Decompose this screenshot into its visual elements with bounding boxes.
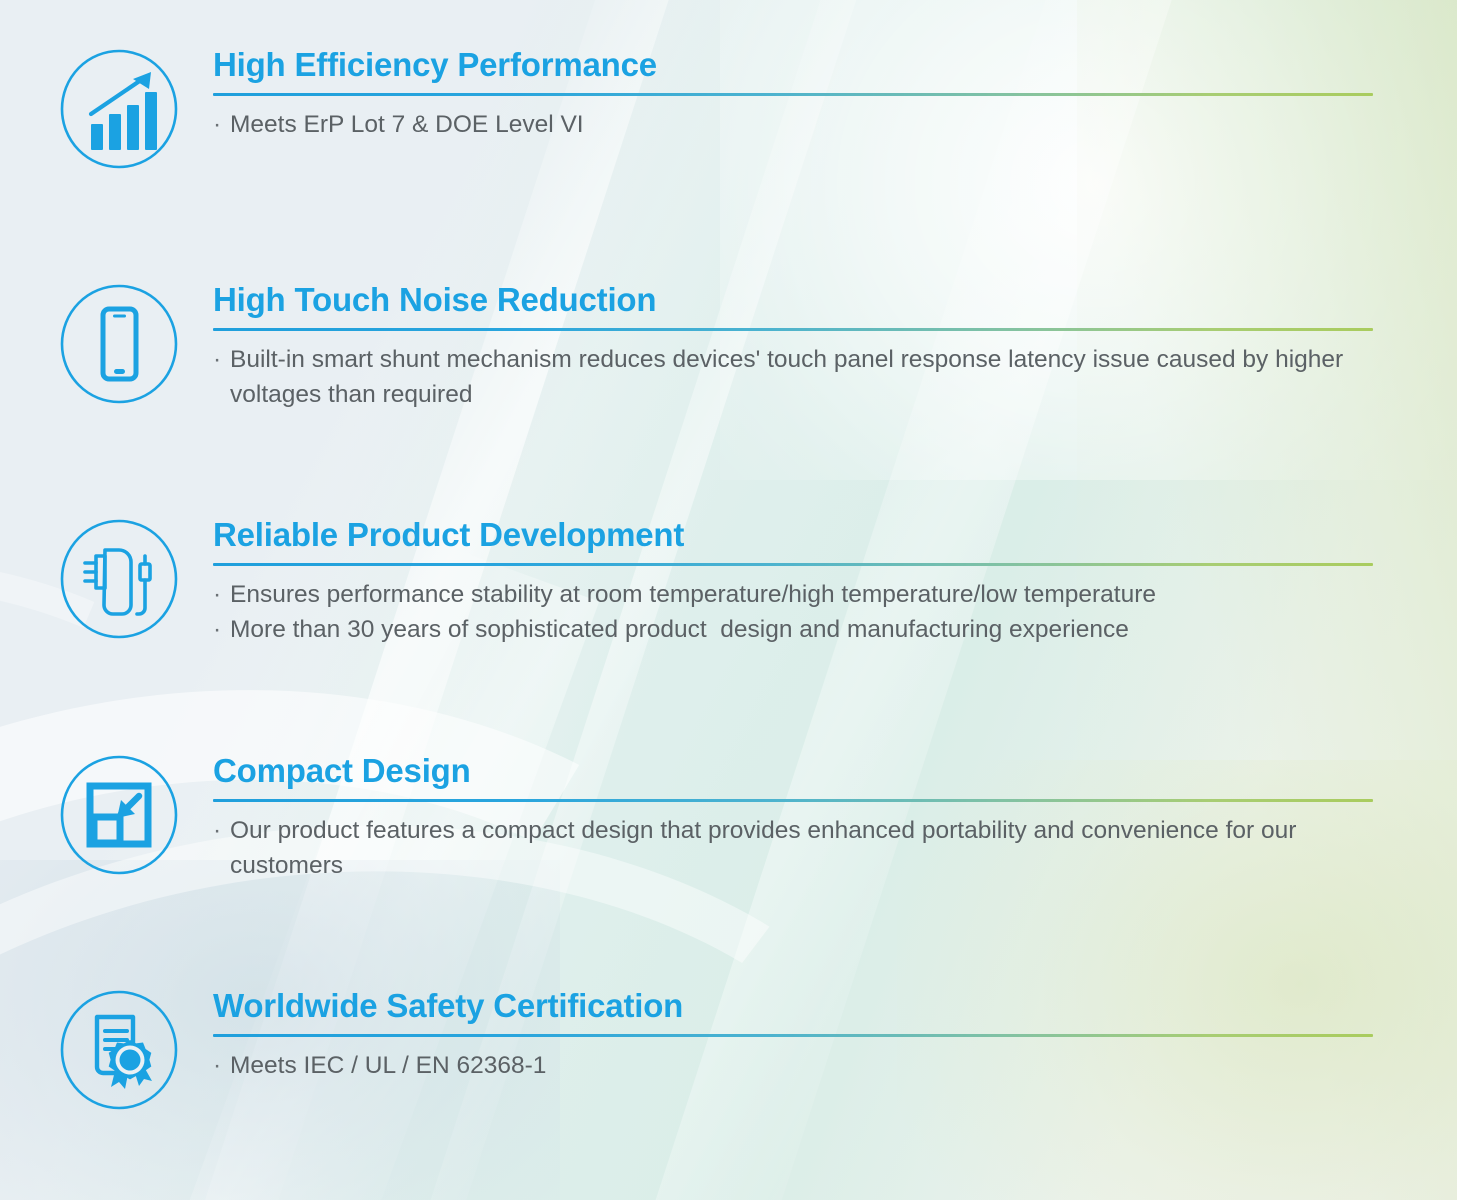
bullet-line: · Meets IEC / UL / EN 62368-1 — [213, 1049, 1378, 1084]
feature-body: Reliable Product Development · Ensures p… — [213, 518, 1378, 648]
bullet-line: · Our product features a compact design … — [213, 814, 1378, 884]
bullet-line: · Built-in smart shunt mechanism reduces… — [213, 343, 1378, 413]
bullet-text: Meets ErP Lot 7 & DOE Level VI — [230, 108, 1378, 143]
feature-bullets: · Ensures performance stability at room … — [213, 578, 1378, 648]
bullet-line: · More than 30 years of sophisticated pr… — [213, 613, 1378, 648]
feature-body: Compact Design · Our product features a … — [213, 754, 1378, 884]
bullet-marker: · — [213, 343, 230, 413]
feature-divider — [213, 93, 1373, 96]
bullet-text: Meets IEC / UL / EN 62368-1 — [230, 1049, 1378, 1084]
bullet-line: · Ensures performance stability at room … — [213, 578, 1378, 613]
feature-divider — [213, 799, 1373, 802]
bar-chart-growth-icon — [59, 48, 179, 170]
bullet-marker: · — [213, 814, 230, 884]
feature-divider — [213, 563, 1373, 566]
feature-body: High Touch Noise Reduction · Built-in sm… — [213, 283, 1378, 413]
feature-body: High Efficiency Performance · Meets ErP … — [213, 48, 1378, 143]
feature-divider — [213, 328, 1373, 331]
feature-title: Worldwide Safety Certification — [213, 989, 1378, 1024]
feature-title: Compact Design — [213, 754, 1378, 789]
feature-title: High Efficiency Performance — [213, 48, 1378, 83]
feature-bullets: · Our product features a compact design … — [213, 814, 1378, 884]
feature-highlights-page: High Efficiency Performance · Meets ErP … — [0, 0, 1457, 1200]
bullet-text: Built-in smart shunt mechanism reduces d… — [230, 343, 1378, 413]
bullet-marker: · — [213, 108, 230, 143]
feature-body: Worldwide Safety Certification · Meets I… — [213, 989, 1378, 1084]
compact-resize-icon — [59, 754, 179, 876]
power-adapter-icon — [59, 518, 179, 640]
feature-title: High Touch Noise Reduction — [213, 283, 1378, 318]
bullet-line: · Meets ErP Lot 7 & DOE Level VI — [213, 108, 1378, 143]
bullet-text: Our product features a compact design th… — [230, 814, 1378, 884]
feature-bullets: · Meets IEC / UL / EN 62368-1 — [213, 1049, 1378, 1084]
bullet-text: More than 30 years of sophisticated prod… — [230, 613, 1378, 648]
bullet-marker: · — [213, 613, 230, 648]
feature-bullets: · Built-in smart shunt mechanism reduces… — [213, 343, 1378, 413]
bullet-text: Ensures performance stability at room te… — [230, 578, 1378, 613]
feature-title: Reliable Product Development — [213, 518, 1378, 553]
feature-bullets: · Meets ErP Lot 7 & DOE Level VI — [213, 108, 1378, 143]
certificate-award-icon — [59, 989, 179, 1111]
bullet-marker: · — [213, 578, 230, 613]
feature-divider — [213, 1034, 1373, 1037]
smartphone-icon — [59, 283, 179, 405]
bullet-marker: · — [213, 1049, 230, 1084]
